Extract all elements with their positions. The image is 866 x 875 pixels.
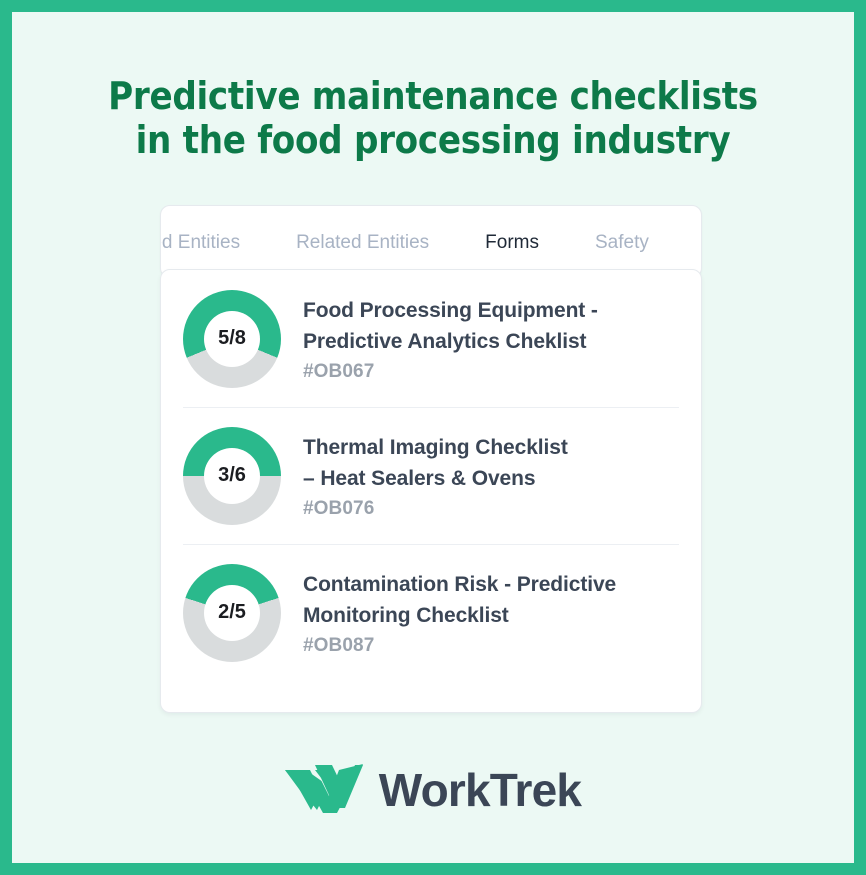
progress-fraction: 5/8 [183, 290, 281, 388]
brand-name: WorkTrek [379, 767, 581, 813]
progress-donut: 3/6 [183, 427, 281, 525]
checklist-title-line-1: Thermal Imaging Checklist [303, 436, 568, 459]
checklist-title: Thermal Imaging Checklist – Heat Sealers… [303, 432, 568, 494]
checklist-id: #OB087 [303, 635, 616, 657]
tab-bar: Related Entities Related Entities Forms … [160, 205, 702, 278]
forms-list-card: 5/8 Food Processing Equipment - Predicti… [160, 269, 702, 713]
tab-safety[interactable]: Safety [567, 206, 677, 278]
checklist-title-line-2: Predictive Analytics Cheklist [303, 330, 586, 353]
checklist-title: Contamination Risk - Predictive Monitori… [303, 569, 616, 631]
checklist-list: 5/8 Food Processing Equipment - Predicti… [161, 270, 701, 681]
checklist-title-line-2: – Heat Sealers & Ovens [303, 467, 535, 490]
checklist-text: Contamination Risk - Predictive Monitori… [303, 569, 616, 657]
tab-forms[interactable]: Forms [457, 206, 567, 278]
tab-related-entities-1[interactable]: Related Entities [160, 206, 268, 278]
checklist-title: Food Processing Equipment - Predictive A… [303, 295, 598, 357]
forms-widget: Related Entities Related Entities Forms … [160, 205, 702, 713]
checklist-text: Thermal Imaging Checklist – Heat Sealers… [303, 432, 568, 520]
checklist-id: #OB076 [303, 498, 568, 520]
poster-frame: Predictive maintenance checklists in the… [12, 12, 854, 863]
checklist-title-line-2: Monitoring Checklist [303, 604, 509, 627]
progress-donut: 5/8 [183, 290, 281, 388]
list-item[interactable]: 5/8 Food Processing Equipment - Predicti… [161, 270, 701, 407]
progress-fraction: 3/6 [183, 427, 281, 525]
page-title-line-2: in the food processing industry [12, 120, 854, 160]
tab-related-entities-2[interactable]: Related Entities [268, 206, 457, 278]
checklist-text: Food Processing Equipment - Predictive A… [303, 295, 598, 383]
list-item[interactable]: 3/6 Thermal Imaging Checklist – Heat Sea… [161, 407, 701, 544]
tab-row: Related Entities Related Entities Forms … [160, 206, 677, 278]
brand-logo: WorkTrek [12, 764, 854, 816]
checklist-title-line-1: Food Processing Equipment - [303, 299, 598, 322]
progress-donut: 2/5 [183, 564, 281, 662]
worktrek-logo-icon [285, 764, 363, 816]
page-title-line-1: Predictive maintenance checklists [12, 76, 854, 116]
checklist-id: #OB067 [303, 361, 598, 383]
list-item[interactable]: 2/5 Contamination Risk - Predictive Moni… [161, 544, 701, 681]
progress-fraction: 2/5 [183, 564, 281, 662]
page-title: Predictive maintenance checklists in the… [12, 76, 854, 160]
checklist-title-line-1: Contamination Risk - Predictive [303, 573, 616, 596]
